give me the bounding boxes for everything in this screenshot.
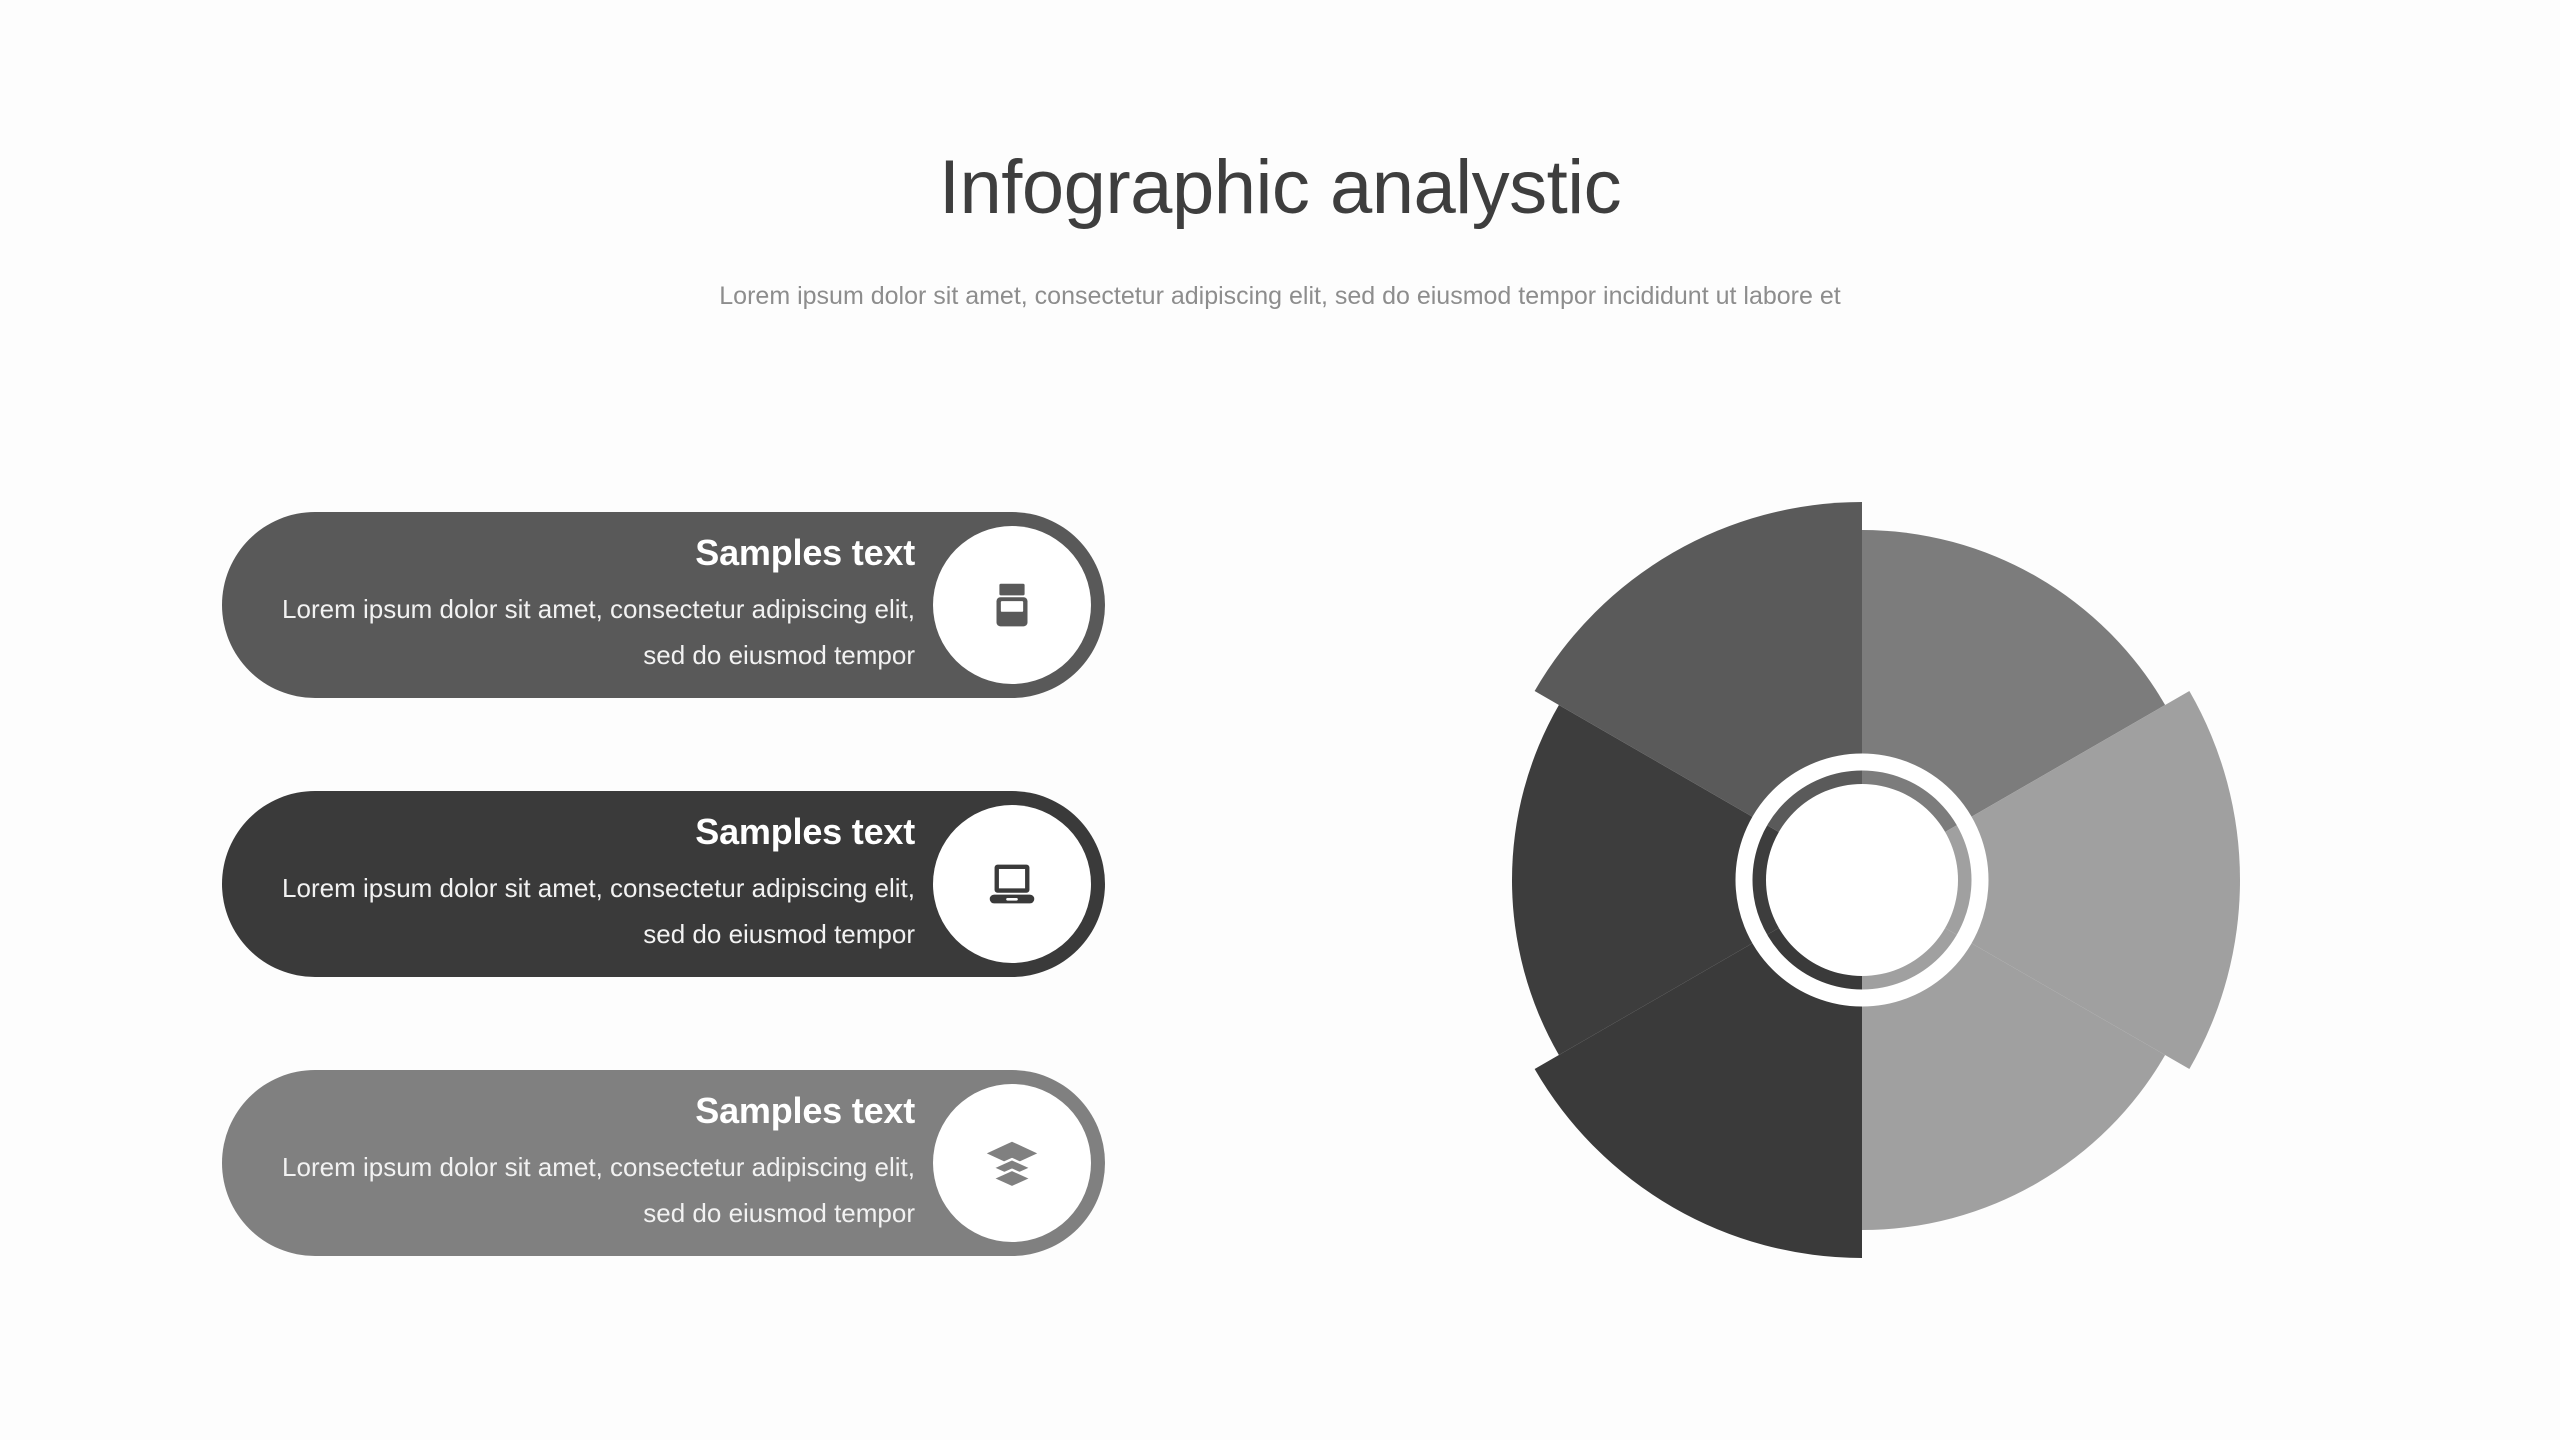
card-description: Lorem ipsum dolor sit amet, consectetur … [265,866,915,957]
card-title: Samples text [695,1090,915,1131]
info-card-list: Samples text Lorem ipsum dolor sit amet,… [222,512,1112,1256]
header: Infographic analystic Lorem ipsum dolor … [0,0,2560,320]
page-title: Infographic analystic [0,0,2560,226]
card-title: Samples text [695,811,915,852]
card-title: Samples text [695,532,915,573]
card-icon-circle[interactable] [933,1084,1091,1242]
page-subtitle: Lorem ipsum dolor sit amet, consectetur … [690,226,1870,320]
card-text-block: Samples text Lorem ipsum dolor sit amet,… [262,791,915,977]
donut-rose-chart[interactable] [1480,495,2250,1285]
chart-center-ring [1744,762,1980,998]
card-icon-circle[interactable] [933,526,1091,684]
info-card-2[interactable]: Samples text Lorem ipsum dolor sit amet,… [222,791,1105,977]
jar-container-icon [981,574,1043,636]
card-text-block: Samples text Lorem ipsum dolor sit amet,… [262,1070,915,1256]
chart-svg [1480,495,2250,1285]
card-text-block: Samples text Lorem ipsum dolor sit amet,… [262,512,915,698]
info-card-1[interactable]: Samples text Lorem ipsum dolor sit amet,… [222,512,1105,698]
info-card-3[interactable]: Samples text Lorem ipsum dolor sit amet,… [222,1070,1105,1256]
card-icon-circle[interactable] [933,805,1091,963]
chart-center-hole [1766,784,1958,976]
laptop-icon [981,853,1043,915]
layers-icon [981,1132,1043,1194]
card-description: Lorem ipsum dolor sit amet, consectetur … [265,587,915,678]
card-description: Lorem ipsum dolor sit amet, consectetur … [265,1145,915,1236]
